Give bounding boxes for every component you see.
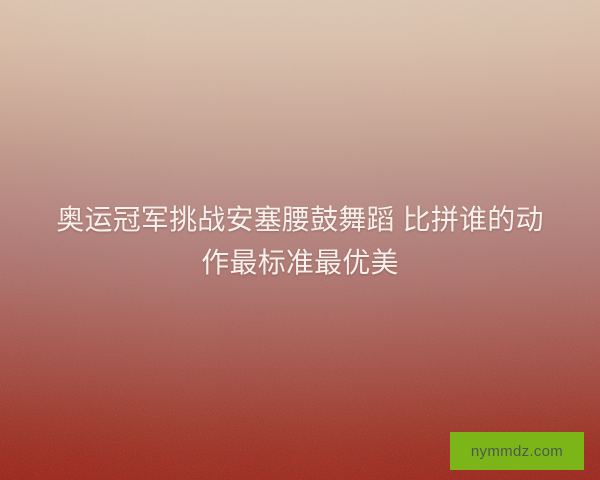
title-line-2: 作最标准最优美 [34,241,566,284]
title-line-1: 奥运冠军挑战安塞腰鼓舞蹈 比拼谁的动 [34,198,566,241]
image-canvas: 奥运冠军挑战安塞腰鼓舞蹈 比拼谁的动 作最标准最优美 nymmdz.com [0,0,600,480]
watermark-label: nymmdz.com [471,444,563,459]
video-title: 奥运冠军挑战安塞腰鼓舞蹈 比拼谁的动 作最标准最优美 [0,198,600,284]
watermark-badge[interactable]: nymmdz.com [450,432,584,470]
